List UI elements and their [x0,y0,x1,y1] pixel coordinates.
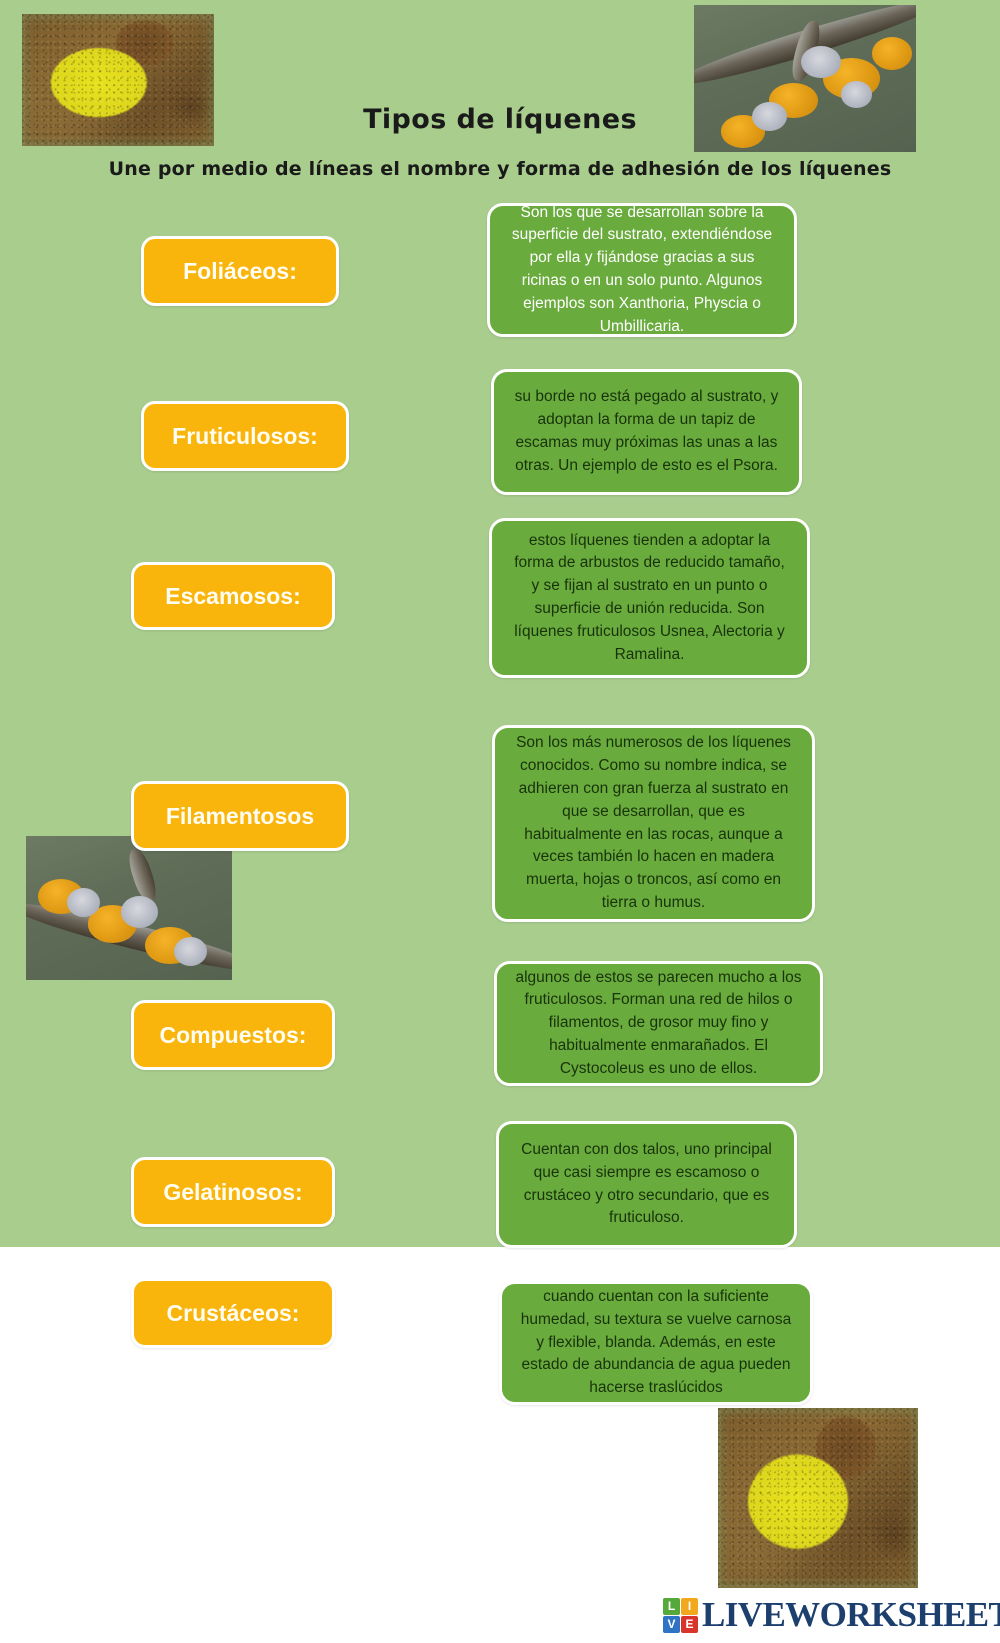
grey-lichen-patch [67,888,100,917]
description-card-3[interactable]: estos líquenes tienden a adoptar la form… [489,518,810,678]
logo-tile-v: V [663,1616,680,1633]
description-card-4[interactable]: Son los más numerosos de los líquenes co… [492,725,815,922]
label-chip-crustaceos[interactable]: Crustáceos: [131,1278,335,1348]
label-chip-gelatinosos[interactable]: Gelatinosos: [131,1157,335,1227]
page-title: Tipos de líquenes [0,104,1000,135]
label-chip-escamosos[interactable]: Escamosos: [131,562,335,630]
description-card-2[interactable]: su borde no está pegado al sustrato, y a… [491,369,802,495]
grey-lichen-patch [174,937,207,966]
label-chip-filamentosos[interactable]: Filamentosos [131,781,349,851]
logo-tile-e: E [681,1616,698,1633]
worksheet-page: Tipos de líquenes Une por medio de línea… [0,0,1000,1643]
lichen-crustose-rock-photo-bottom [718,1408,918,1588]
branch-fork-shape [125,846,160,904]
description-card-1[interactable]: Son los que se desarrollan sobre la supe… [487,203,797,337]
logo-wordmark: LIVEWORKSHEETS [702,1595,1000,1635]
description-card-5[interactable]: algunos de estos se parecen mucho a los … [494,961,823,1086]
label-chip-foliaceos[interactable]: Foliáceos: [141,236,339,306]
description-card-6[interactable]: Cuentan con dos talos, uno principal que… [496,1121,797,1248]
grey-lichen-patch [121,896,158,928]
logo-tile-l: L [663,1598,680,1615]
lichen-branch-photo-left [26,836,232,980]
logo-tile-i: I [681,1598,698,1615]
description-card-7[interactable]: cuando cuentan con la suficiente humedad… [499,1281,813,1405]
label-chip-fruticulosos[interactable]: Fruticulosos: [141,401,349,471]
logo-tiles: L I V E [663,1598,698,1633]
grey-lichen-patch [801,46,841,78]
orange-lichen-patch [872,37,912,69]
instruction-text: Une por medio de líneas el nombre y form… [0,158,1000,180]
label-chip-compuestos[interactable]: Compuestos: [131,1000,335,1070]
liveworksheets-logo[interactable]: L I V E LIVEWORKSHEETS [663,1595,1000,1635]
